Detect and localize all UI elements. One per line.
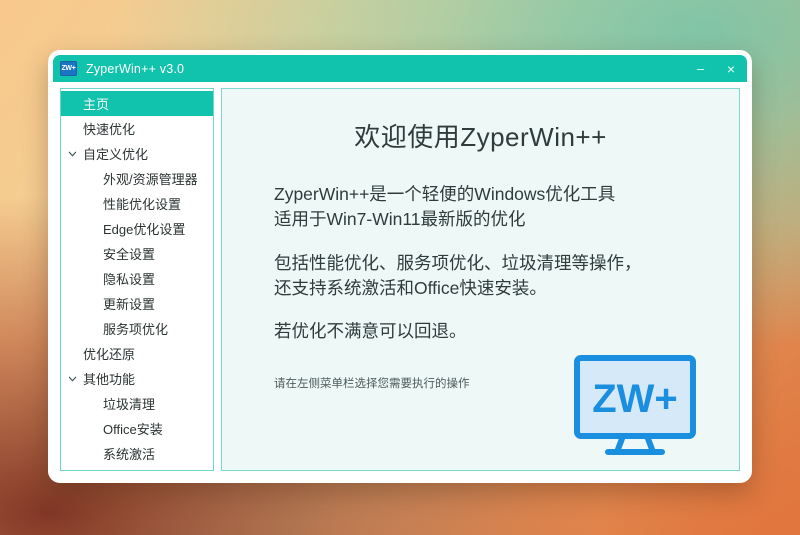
- sidebar-item-13[interactable]: Office安装: [61, 416, 213, 441]
- minimize-icon[interactable]: –: [686, 55, 715, 82]
- sidebar-item-12[interactable]: 垃圾清理: [61, 391, 213, 416]
- svg-text:ZW+: ZW+: [592, 377, 678, 421]
- sidebar-item-4[interactable]: 性能优化设置: [61, 191, 213, 216]
- intro-line: 若优化不满意可以回退。: [274, 319, 739, 344]
- sidebar-item-label: Office安装: [61, 419, 163, 438]
- sidebar-item-label: 安全设置: [61, 244, 155, 263]
- sidebar-nav: 主页快速优化自定义优化外观/资源管理器性能优化设置Edge优化设置安全设置隐私设…: [60, 88, 214, 471]
- close-icon[interactable]: ×: [715, 55, 747, 82]
- intro-paragraph-1: ZyperWin++是一个轻便的Windows优化工具 适用于Win7-Win1…: [274, 182, 739, 232]
- monitor-zw-plus-logo: ZW+: [571, 354, 699, 458]
- intro-paragraph-3: 若优化不满意可以回退。: [274, 319, 739, 344]
- sidebar-item-label: 快速优化: [61, 119, 135, 138]
- chevron-down-icon[interactable]: [68, 374, 77, 383]
- sidebar-item-6[interactable]: 安全设置: [61, 241, 213, 266]
- sidebar-item-label: 性能优化设置: [61, 194, 181, 213]
- content-panel: 欢迎使用ZyperWin++ ZyperWin++是一个轻便的Windows优化…: [221, 88, 740, 471]
- sidebar-item-label: 隐私设置: [61, 269, 155, 288]
- window-title: ZyperWin++ v3.0: [86, 62, 184, 76]
- app-icon-text: ZW+: [61, 65, 75, 72]
- sidebar-item-0[interactable]: 主页: [61, 91, 213, 116]
- window-titlebar[interactable]: ZW+ ZyperWin++ v3.0 – ×: [53, 55, 747, 82]
- window-controls: – ×: [686, 55, 747, 82]
- desktop-background: ZW+ ZyperWin++ v3.0 – × 主页快速优化自定义优化外观/资源…: [0, 0, 800, 535]
- sidebar-item-10[interactable]: 优化还原: [61, 341, 213, 366]
- sidebar-item-label: Edge优化设置: [61, 219, 185, 238]
- page-title: 欢迎使用ZyperWin++: [222, 117, 739, 154]
- app-window: ZW+ ZyperWin++ v3.0 – × 主页快速优化自定义优化外观/资源…: [48, 50, 752, 483]
- sidebar-item-7[interactable]: 隐私设置: [61, 266, 213, 291]
- intro-paragraph-2: 包括性能优化、服务项优化、垃圾清理等操作， 还支持系统激活和Office快速安装…: [274, 251, 739, 301]
- sidebar-item-11[interactable]: 其他功能: [61, 366, 213, 391]
- sidebar-item-8[interactable]: 更新设置: [61, 291, 213, 316]
- sidebar-item-label: 系统激活: [61, 444, 155, 463]
- sidebar-item-9[interactable]: 服务项优化: [61, 316, 213, 341]
- intro-line: 还支持系统激活和Office快速安装。: [274, 276, 739, 301]
- sidebar-item-15[interactable]: Appx管理: [61, 466, 213, 471]
- sidebar-item-label: Appx管理: [61, 469, 159, 471]
- zw-plus-app-icon: ZW+: [60, 61, 77, 76]
- intro-line: 包括性能优化、服务项优化、垃圾清理等操作，: [274, 251, 739, 276]
- sidebar-item-2[interactable]: 自定义优化: [61, 141, 213, 166]
- intro-line: ZyperWin++是一个轻便的Windows优化工具: [274, 182, 739, 207]
- sidebar-item-5[interactable]: Edge优化设置: [61, 216, 213, 241]
- chevron-down-icon[interactable]: [68, 149, 77, 158]
- sidebar-item-label: 优化还原: [61, 344, 135, 363]
- sidebar-item-label: 主页: [61, 94, 109, 113]
- sidebar-item-1[interactable]: 快速优化: [61, 116, 213, 141]
- window-body: 主页快速优化自定义优化外观/资源管理器性能优化设置Edge优化设置安全设置隐私设…: [53, 82, 747, 478]
- sidebar-item-14[interactable]: 系统激活: [61, 441, 213, 466]
- sidebar-item-label: 更新设置: [61, 294, 155, 313]
- intro-line: 适用于Win7-Win11最新版的优化: [274, 207, 739, 232]
- sidebar-item-label: 垃圾清理: [61, 394, 155, 413]
- sidebar-item-3[interactable]: 外观/资源管理器: [61, 166, 213, 191]
- sidebar-item-label: 外观/资源管理器: [61, 169, 198, 188]
- sidebar-item-label: 服务项优化: [61, 319, 168, 338]
